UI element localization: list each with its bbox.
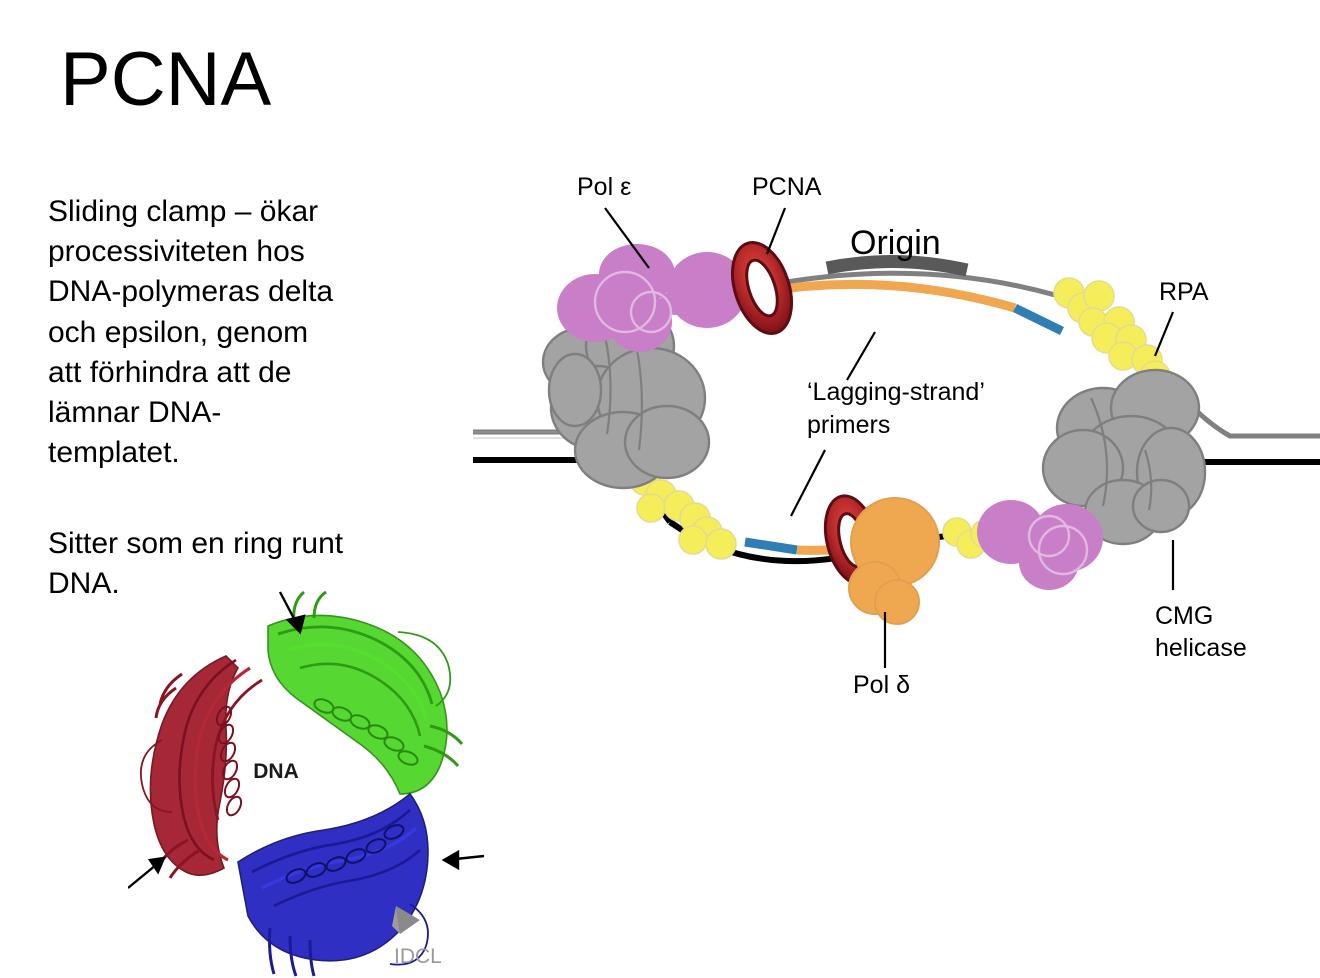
label-rpa-text: RPA xyxy=(1159,278,1209,306)
label-cmg-helicase-line2: helicase xyxy=(1155,634,1247,662)
label-lagging-strand-primers-line2: primers xyxy=(807,411,890,439)
pcna-subunit-red xyxy=(141,656,262,878)
annotation-arrow-right-icon xyxy=(444,852,484,868)
page-title: PCNA xyxy=(60,42,271,118)
label-rpa: RPA xyxy=(1155,278,1209,356)
label-pcna-text: PCNA xyxy=(752,173,822,201)
annotation-arrow-left-icon xyxy=(128,858,164,888)
leader-line-rpa xyxy=(1155,312,1173,356)
label-pcna: PCNA xyxy=(752,173,822,254)
replication-bubble-diagram: Pol ε PCNA Origin RPA ‘Lagging-strand’ p… xyxy=(455,150,1320,710)
pcna-trimer-ring-structure: DNA IDCL xyxy=(128,588,488,978)
label-lagging-strand-primers: ‘Lagging-strand’ primers xyxy=(791,332,985,516)
label-cmg-helicase: CMG helicase xyxy=(1155,540,1247,662)
label-origin-text: Origin xyxy=(850,224,941,262)
slide-canvas: PCNA Sliding clamp – ökar processivitete… xyxy=(0,0,1320,978)
body-paragraph-1: Sliding clamp – ökar processiviteten hos… xyxy=(48,192,348,473)
pcna-ring-left[interactable] xyxy=(722,235,802,341)
idcl-label: IDCL xyxy=(394,945,442,968)
label-pol-delta: Pol δ xyxy=(853,612,910,699)
pcna-structure-dna-label: DNA xyxy=(253,760,299,783)
pol-epsilon-left xyxy=(557,244,747,352)
primer-blue-top xyxy=(1015,308,1062,331)
pol-delta xyxy=(849,498,939,624)
leader-line-primers-bottom xyxy=(791,450,825,516)
origin-marker-bar xyxy=(827,261,967,270)
label-origin: Origin xyxy=(850,224,941,262)
pol-epsilon-right xyxy=(977,500,1103,590)
leader-line-pcna xyxy=(767,208,785,254)
label-pol-epsilon-text: Pol ε xyxy=(577,173,631,201)
leader-line-primers-top xyxy=(847,332,875,380)
label-cmg-helicase-line1: CMG xyxy=(1155,602,1213,630)
label-lagging-strand-primers-line1: ‘Lagging-strand’ xyxy=(807,378,985,406)
label-pol-delta-text: Pol δ xyxy=(853,671,910,699)
